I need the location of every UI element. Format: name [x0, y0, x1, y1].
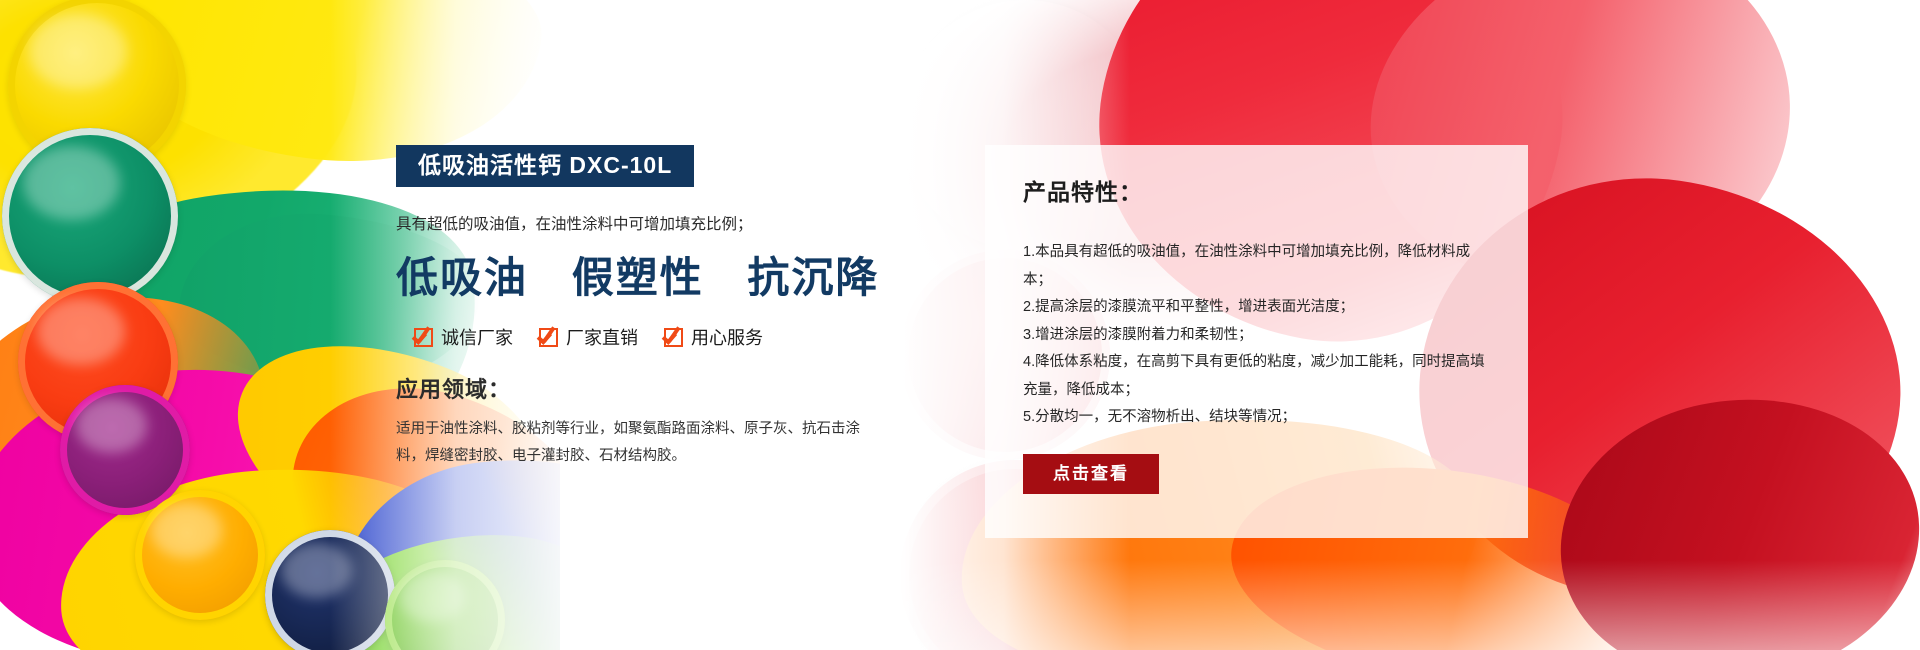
product-feature-list: 1.本品具有超低的吸油值，在油性涂料中可增加填充比例，降低材料成本； 2.提高涂… [1023, 239, 1494, 432]
list-item: 1.本品具有超低的吸油值，在油性涂料中可增加填充比例，降低材料成本； [1023, 239, 1494, 294]
right-artwork-bottom-fade [900, 560, 1920, 650]
list-item: 3.增进涂层的漆膜附着力和柔韧性； [1023, 322, 1494, 350]
feature-label-1: 诚信厂家 [441, 324, 513, 350]
checkbox-check-icon [664, 328, 683, 347]
view-details-button[interactable]: 点击查看 [1023, 454, 1159, 494]
paint-pot-orange [135, 490, 265, 620]
product-features-panel: 产品特性： 1.本品具有超低的吸油值，在油性涂料中可增加填充比例，降低材料成本；… [985, 145, 1528, 538]
paint-pot-purple [60, 385, 190, 515]
paint-pot-green [2, 128, 178, 304]
promo-banner: 低吸油活性钙 DXC-10L 具有超低的吸油值，在油性涂料中可增加填充比例； 低… [0, 0, 1920, 650]
product-subtitle: 具有超低的吸油值，在油性涂料中可增加填充比例； [396, 213, 916, 238]
headline-word-1: 低吸油 [396, 254, 528, 301]
feature-label-3: 用心服务 [691, 324, 763, 350]
panel-title: 产品特性： [1023, 173, 1494, 207]
feature-badge-3: 用心服务 [664, 324, 763, 350]
list-item: 5.分散均一，无不溶物析出、结块等情况； [1023, 404, 1494, 432]
headline-keywords: 低吸油 假塑性 抗沉降 [396, 254, 916, 302]
application-area-title: 应用领域： [396, 372, 916, 404]
list-item: 4.降低体系粘度，在高剪下具有更低的粘度，减少加工能耗，同时提高填充量，降低成本… [1023, 349, 1494, 404]
checkbox-check-icon [539, 328, 558, 347]
feature-label-2: 厂家直销 [566, 324, 638, 350]
feature-badge-row: 诚信厂家 厂家直销 用心服务 [396, 324, 916, 350]
headline-word-3: 抗沉降 [747, 254, 879, 301]
checkbox-check-icon [414, 328, 433, 347]
product-title-bar: 低吸油活性钙 DXC-10L [396, 145, 694, 187]
application-area-body: 适用于油性涂料、胶粘剂等行业，如聚氨酯路面涂料、原子灰、抗石击涂料，焊缝密封胶、… [396, 416, 866, 470]
feature-badge-1: 诚信厂家 [414, 324, 513, 350]
feature-badge-2: 厂家直销 [539, 324, 638, 350]
list-item: 2.提高涂层的漆膜流平和平整性，增进表面光洁度； [1023, 294, 1494, 322]
headline-word-2: 假塑性 [572, 254, 704, 301]
left-copy-block: 低吸油活性钙 DXC-10L 具有超低的吸油值，在油性涂料中可增加填充比例； 低… [396, 145, 916, 470]
